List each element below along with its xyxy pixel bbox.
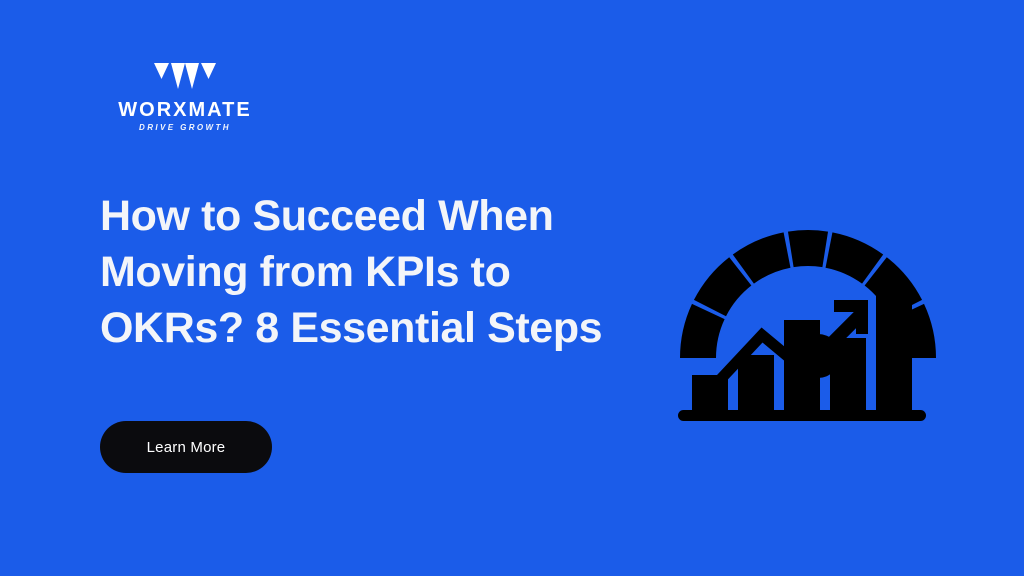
brand-wordmark: WORXMATE <box>118 100 251 120</box>
gauge-and-bar-chart-growth-icon <box>666 160 950 428</box>
headline-line-1: How to Succeed When <box>100 188 660 244</box>
headline-line-2: Moving from KPIs to <box>100 244 660 300</box>
worxmate-w-mark-icon <box>154 63 216 95</box>
learn-more-button[interactable]: Learn More <box>100 421 272 473</box>
headline-line-3: OKRs? 8 Essential Steps <box>100 300 660 356</box>
blog-banner: WORXMATE DRIVE GROWTH How to Succeed Whe… <box>0 0 1024 576</box>
brand-tagline: DRIVE GROWTH <box>139 124 231 132</box>
page-title: How to Succeed When Moving from KPIs to … <box>100 188 660 356</box>
brand-logo[interactable]: WORXMATE DRIVE GROWTH <box>99 63 271 132</box>
